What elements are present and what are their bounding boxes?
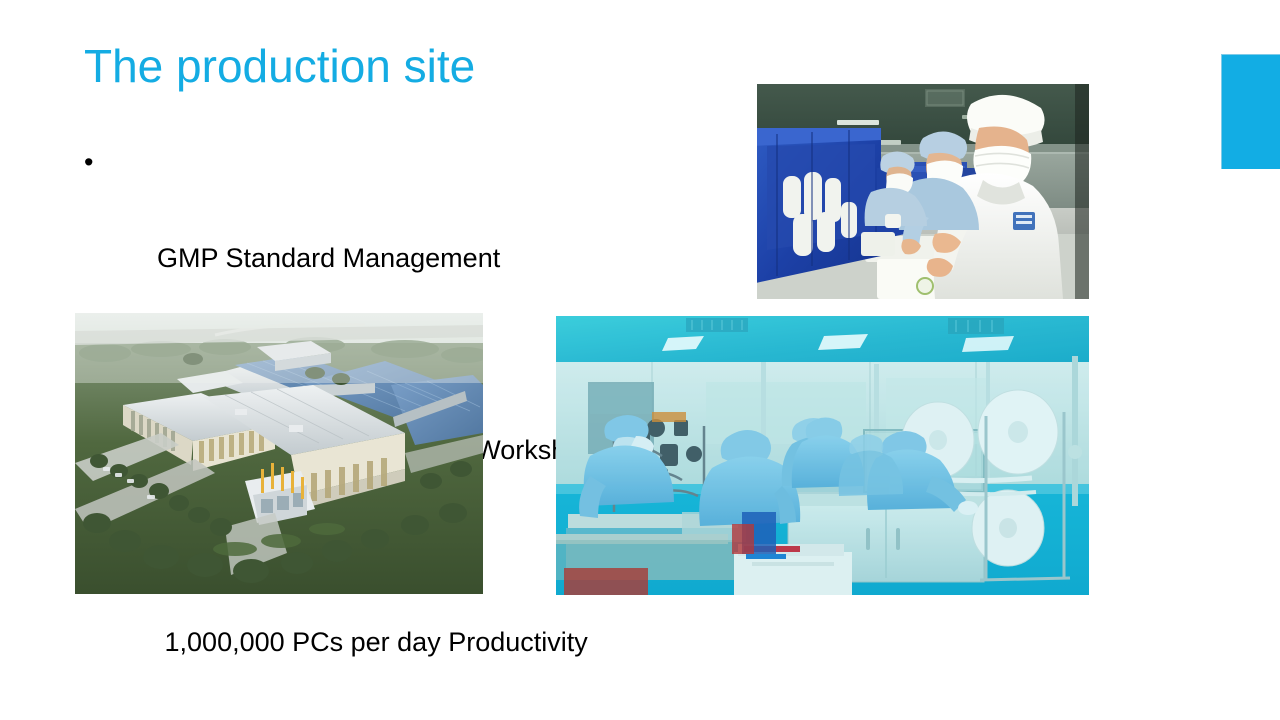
- image-factory-aerial-view: [75, 313, 483, 594]
- page-title: The production site: [84, 38, 475, 94]
- slide-canvas: The production site • GMP Standard Manag…: [0, 0, 1280, 720]
- image-cleanroom-workshop: [556, 316, 1089, 595]
- accent-rectangle: [1221, 54, 1280, 169]
- bullet-item-3-label: 1,000,000 PCs per day Productivity: [157, 627, 588, 657]
- image-production-workers: [757, 84, 1089, 299]
- bullet-item-1: • GMP Standard Management: [80, 138, 700, 330]
- bullet-item-1-label: GMP Standard Management: [157, 243, 500, 273]
- bullet-marker-icon: •: [84, 138, 93, 186]
